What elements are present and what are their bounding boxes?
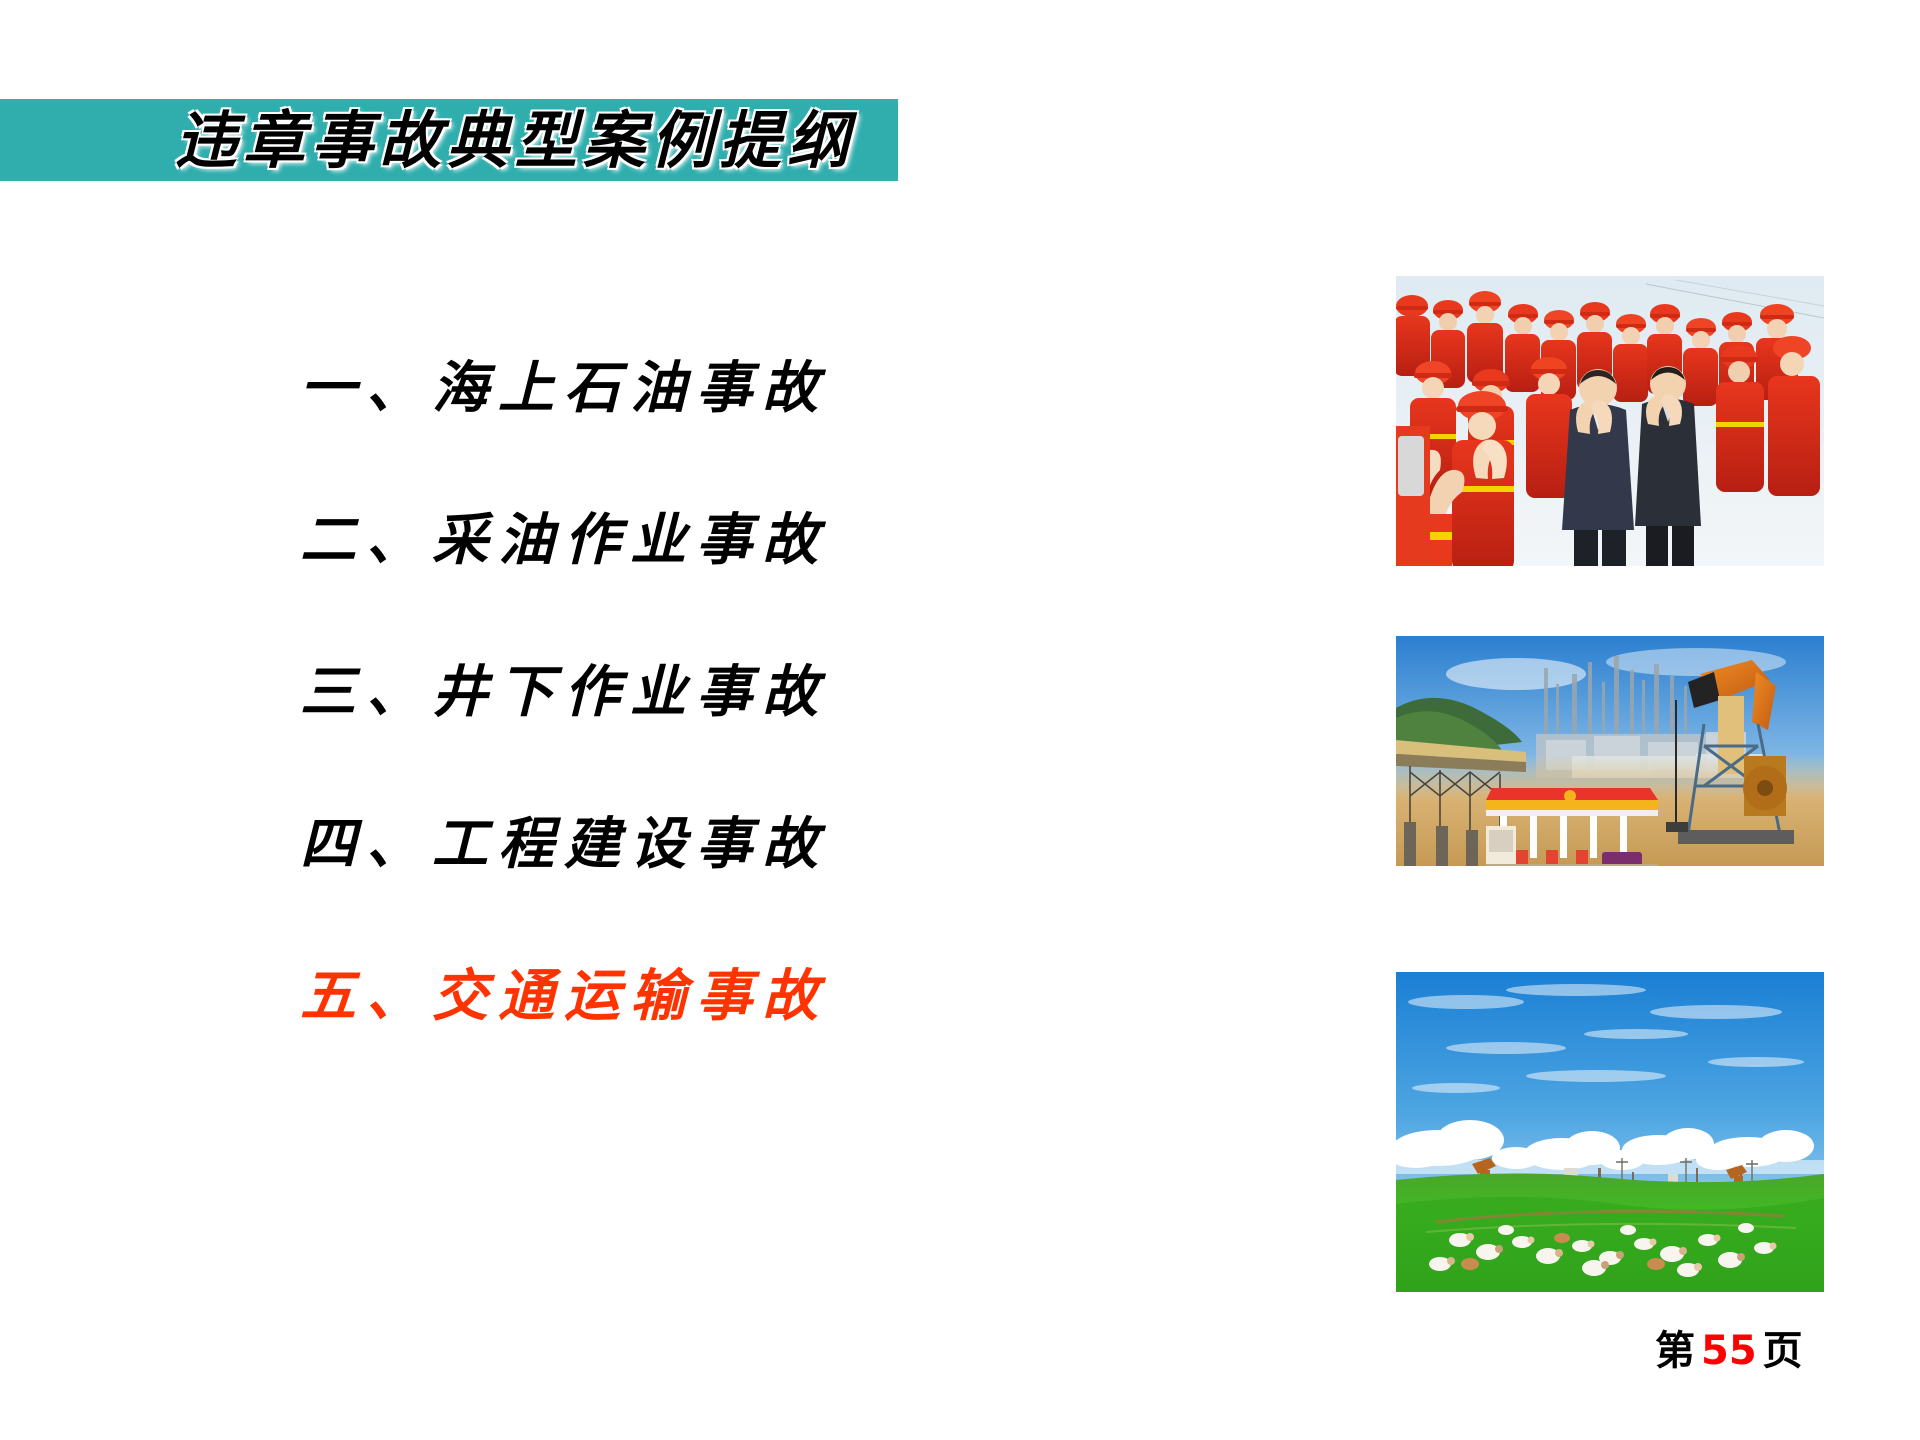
outline-item-4[interactable]: 四、工程建设事故 bbox=[300, 816, 1000, 880]
grassland-illustration bbox=[1396, 972, 1824, 1292]
outline-list: 一、海上石油事故 二、采油作业事故 三、井下作业事故 四、工程建设事故 五、交通… bbox=[300, 360, 1000, 1120]
outline-item-5[interactable]: 五、交通运输事故 bbox=[300, 968, 1000, 1032]
page-suffix: 页 bbox=[1763, 1328, 1803, 1374]
oil-workers-applauding-photo bbox=[1396, 276, 1824, 566]
refinery-illustration bbox=[1396, 636, 1824, 866]
page-number: 55 bbox=[1695, 1328, 1763, 1374]
outline-item-2[interactable]: 二、采油作业事故 bbox=[300, 512, 1000, 576]
oil-workers-illustration bbox=[1396, 276, 1824, 566]
grassland-oilfield-photo bbox=[1396, 972, 1824, 1292]
outline-item-3[interactable]: 三、井下作业事故 bbox=[300, 664, 1000, 728]
page-title: 违章事故典型案例提纲 bbox=[175, 95, 935, 187]
outline-item-1[interactable]: 一、海上石油事故 bbox=[300, 360, 1000, 424]
page-number-footer: 第55页 bbox=[1655, 1318, 1803, 1376]
refinery-pumpjack-gas-station-photo bbox=[1396, 636, 1824, 866]
page-prefix: 第 bbox=[1655, 1328, 1695, 1374]
